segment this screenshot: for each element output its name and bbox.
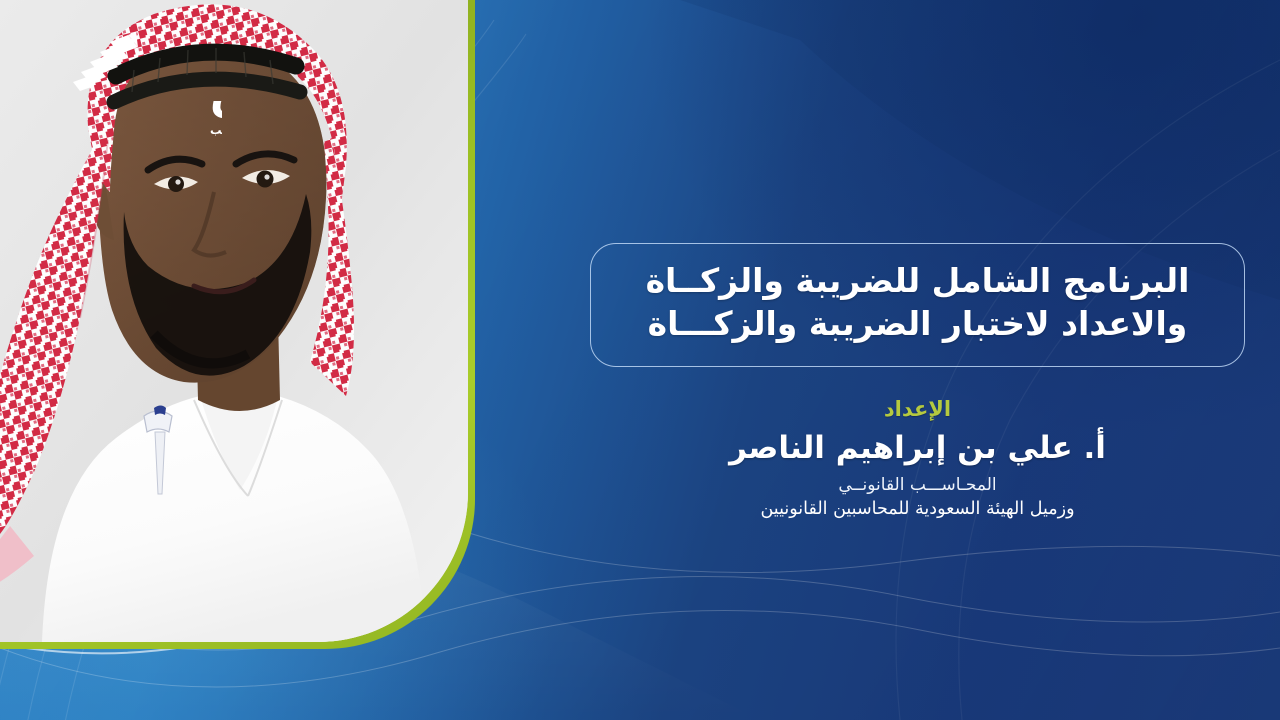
program-title-line-1: البرنامج الشامل للضريبة والزكــاة	[619, 260, 1216, 303]
logo-tagline: مركز التمكين المالي للتدريب	[210, 123, 222, 137]
logo-wordmark: تمكين	[210, 68, 222, 119]
presentation-slide: تمكين مركز التمكين المالي للتدريب البرنا…	[0, 0, 1280, 720]
presenter-name: أ. علي بن إبراهيم الناصر	[590, 428, 1245, 468]
presenter-role: المحـاســـب القانونــي	[590, 474, 1245, 497]
program-title-box: البرنامج الشامل للضريبة والزكــاة والاعد…	[590, 243, 1245, 367]
stacked-chevrons-arrow-icon	[73, 32, 138, 91]
presenter-organization: وزميل الهيئة السعودية للمحاسبين القانوني…	[590, 498, 1245, 522]
presenter-credits: الإعداد أ. علي بن إبراهيم الناصر المحـاس…	[590, 396, 1245, 522]
brand-logo[interactable]: تمكين مركز التمكين المالي للتدريب	[32, 30, 222, 148]
credits-label: الإعداد	[590, 396, 1245, 422]
program-title-line-2: والاعداد لاختبار الضريبة والزكـــاة	[619, 303, 1216, 346]
